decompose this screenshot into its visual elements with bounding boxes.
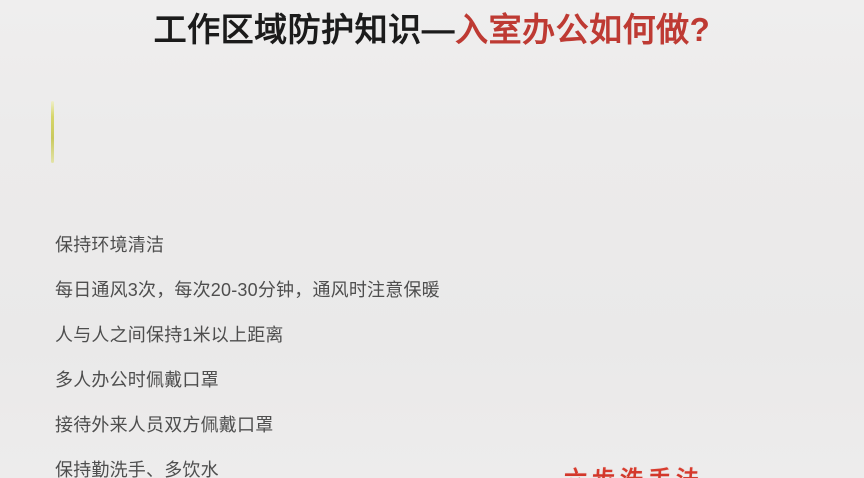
poster-title: 六步洗手法: [493, 460, 775, 478]
page-title: 工作区域防护知识—入室办公如何做?: [0, 8, 864, 52]
body-line-4: 多人办公时佩戴口罩: [55, 369, 475, 391]
page-title-dash: —: [422, 11, 456, 48]
body-text-list: 保持环境清洁 每日通风3次，每次20-30分钟，通风时注意保暖 人与人之间保持1…: [55, 234, 475, 478]
accent-bar: [51, 101, 54, 163]
page-title-black-part: 工作区域防护知识: [154, 11, 422, 48]
page-title-red-part: 入室办公如何做?: [455, 11, 710, 48]
body-line-1: 保持环境清洁: [55, 234, 475, 256]
body-line-6: 保持勤洗手、多饮水: [55, 459, 475, 478]
body-line-2: 每日通风3次，每次20-30分钟，通风时注意保暖: [55, 279, 475, 301]
body-line-5: 接待外来人员双方佩戴口罩: [55, 414, 475, 436]
body-line-3: 人与人之间保持1米以上距离: [55, 324, 475, 346]
handwashing-poster: 六步洗手法 第一步打湿双手及手腕，取清洁剂: [494, 460, 774, 478]
slide-canvas: 工作区域防护知识—入室办公如何做? 保持环境清洁 每日通风3次，每次20-30分…: [0, 0, 864, 478]
